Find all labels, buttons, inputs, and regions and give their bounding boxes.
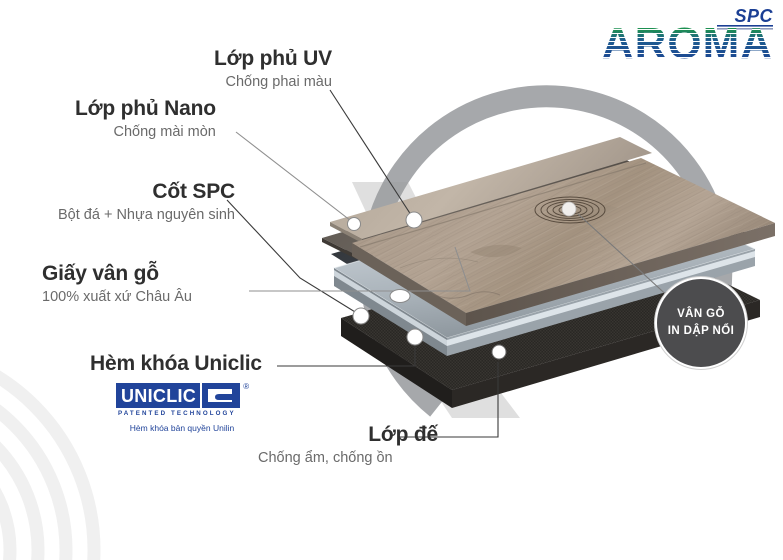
- emboss-badge-line2: IN DẬP NỔI: [668, 323, 734, 340]
- callout-nano-coating: Lớp phủ Nano Chống mài mòn: [75, 97, 216, 140]
- uniclic-logo: UNICLIC ® PATENTED TECHNOLOGY Hèm khóa b…: [116, 383, 248, 433]
- uniclic-caption: Hèm khóa bản quyền Unilin: [112, 423, 252, 433]
- infographic-canvas: AROMA SPC: [0, 0, 783, 490]
- callout-backing: Lớp đế Chống ẩm, chống ồn: [258, 423, 438, 466]
- callout-uv-coating: Lớp phủ UV Chống phai màu: [214, 47, 332, 90]
- registered-trademark-icon: ®: [243, 382, 249, 391]
- callout-decor-paper-sub: 100% xuất xứ Châu Âu: [42, 289, 238, 305]
- callout-uv-coating-title: Lớp phủ UV: [214, 47, 332, 71]
- callout-backing-sub: Chống ẩm, chống ồn: [258, 450, 438, 466]
- uniclic-wordmark: UNICLIC: [116, 383, 200, 408]
- callout-nano-coating-title: Lớp phủ Nano: [75, 97, 216, 121]
- uniclic-tagline: PATENTED TECHNOLOGY: [116, 410, 248, 417]
- callout-uniclic-lock-title: Hèm khóa Uniclic: [90, 352, 262, 376]
- callout-spc-core: Cốt SPC Bột đá + Nhựa nguyên sinh: [45, 180, 235, 223]
- callout-nano-coating-sub: Chống mài mòn: [75, 124, 216, 140]
- callout-uv-coating-sub: Chống phai màu: [214, 74, 332, 90]
- emboss-badge-line1: VÂN GỖ: [677, 306, 725, 323]
- callout-decor-paper: Giấy vân gỗ 100% xuất xứ Châu Âu: [42, 262, 238, 305]
- callout-spc-core-sub: Bột đá + Nhựa nguyên sinh: [45, 207, 235, 223]
- callout-uniclic-lock: Hèm khóa Uniclic: [90, 352, 262, 376]
- uniclic-click-icon: ®: [202, 383, 240, 408]
- callout-backing-title: Lớp đế: [258, 423, 438, 447]
- emboss-badge: VÂN GỖ IN DẬP NỔI: [655, 277, 747, 369]
- callout-decor-paper-title: Giấy vân gỗ: [42, 262, 238, 286]
- callout-spc-core-title: Cốt SPC: [45, 180, 235, 204]
- uniclic-wordmark-bar: UNICLIC ®: [116, 383, 248, 408]
